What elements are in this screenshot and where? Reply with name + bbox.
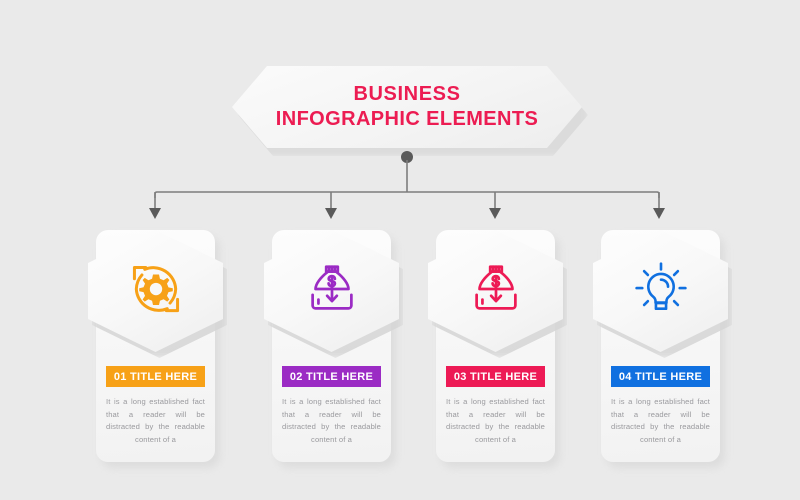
card-badge-02[interactable]: 02 TITLE HERE <box>282 366 381 387</box>
connector-bus <box>155 192 659 198</box>
card-badge-01[interactable]: 01 TITLE HERE <box>106 366 205 387</box>
card-description-02: It is a long established fact that a rea… <box>282 396 381 446</box>
card-badge-03[interactable]: 03 TITLE HERE <box>446 366 545 387</box>
connector-arrow-3-icon <box>489 208 501 219</box>
info-card-03[interactable]: 03 TITLE HERE It is a long established f… <box>436 230 555 462</box>
page-title-line-2: INFOGRAPHIC ELEMENTS <box>276 107 538 132</box>
gear-refresh-icon <box>124 257 188 321</box>
card-badge-04[interactable]: 04 TITLE HERE <box>611 366 710 387</box>
infographic-canvas: BUSINESS INFOGRAPHIC ELEMENTS <box>0 0 800 500</box>
money-bag-deposit-icon <box>464 257 528 321</box>
info-card-02[interactable]: 02 TITLE HERE It is a long established f… <box>272 230 391 462</box>
card-hexagon <box>593 230 728 352</box>
card-description-03: It is a long established fact that a rea… <box>446 396 545 446</box>
info-card-04[interactable]: 04 TITLE HERE It is a long established f… <box>601 230 720 462</box>
money-bag-deposit-icon <box>300 257 364 321</box>
card-description-01: It is a long established fact that a rea… <box>106 396 205 446</box>
connector-arrow-1-icon <box>149 208 161 219</box>
connector-arrow-4-icon <box>653 208 665 219</box>
card-hexagon <box>428 230 563 352</box>
card-hexagon <box>88 230 223 352</box>
page-title-line-1: BUSINESS <box>353 82 460 107</box>
info-card-01[interactable]: 01 TITLE HERE It is a long established f… <box>96 230 215 462</box>
lightbulb-idea-icon <box>629 257 693 321</box>
card-description-04: It is a long established fact that a rea… <box>611 396 710 446</box>
header-banner-face: BUSINESS INFOGRAPHIC ELEMENTS <box>232 66 582 148</box>
card-hexagon <box>264 230 399 352</box>
connector-arrow-2-icon <box>325 208 337 219</box>
connector-tree <box>0 148 800 228</box>
header-banner: BUSINESS INFOGRAPHIC ELEMENTS <box>232 66 582 148</box>
